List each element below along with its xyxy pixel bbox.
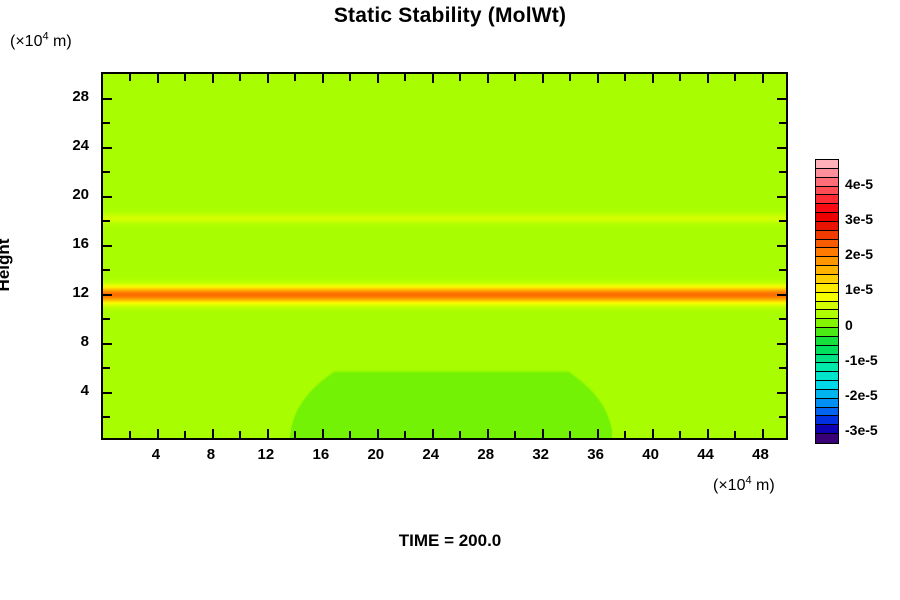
colorbar-band bbox=[816, 416, 838, 425]
axis-tick bbox=[459, 74, 461, 81]
x-tick-label: 20 bbox=[356, 446, 396, 463]
axis-tick bbox=[777, 196, 786, 198]
colorbar-band bbox=[816, 204, 838, 213]
y-unit-suffix: m) bbox=[49, 33, 72, 50]
colorbar-band bbox=[816, 390, 838, 399]
colorbar-band bbox=[816, 222, 838, 231]
y-tick-label: 20 bbox=[47, 186, 89, 203]
x-tick-label: 32 bbox=[521, 446, 561, 463]
axis-tick bbox=[679, 431, 681, 438]
axis-tick bbox=[734, 431, 736, 438]
colorbar-band bbox=[816, 240, 838, 249]
x-tick-label: 24 bbox=[411, 446, 451, 463]
axis-tick bbox=[652, 74, 654, 83]
colorbar-band bbox=[816, 310, 838, 319]
x-unit-suffix: m) bbox=[752, 477, 775, 494]
plot-area bbox=[101, 72, 788, 440]
axis-tick bbox=[779, 122, 786, 124]
colorbar-band bbox=[816, 248, 838, 257]
axis-tick bbox=[459, 431, 461, 438]
axis-tick bbox=[129, 74, 131, 81]
colorbar-band bbox=[816, 284, 838, 293]
axis-tick bbox=[487, 74, 489, 83]
axis-tick bbox=[542, 429, 544, 438]
axis-tick bbox=[103, 343, 112, 345]
colorbar-band bbox=[816, 434, 838, 443]
axis-tick bbox=[184, 74, 186, 81]
axis-tick bbox=[294, 431, 296, 438]
axis-tick bbox=[267, 429, 269, 438]
axis-tick bbox=[779, 416, 786, 418]
colorbar-band bbox=[816, 213, 838, 222]
axis-tick bbox=[777, 245, 786, 247]
axis-tick bbox=[103, 147, 112, 149]
axis-tick bbox=[569, 74, 571, 81]
x-tick-label: 28 bbox=[466, 446, 506, 463]
colorbar-band bbox=[816, 399, 838, 408]
y-tick-label: 24 bbox=[47, 137, 89, 154]
axis-tick bbox=[239, 74, 241, 81]
colorbar-band bbox=[816, 319, 838, 328]
colorbar-band bbox=[816, 293, 838, 302]
axis-tick bbox=[779, 220, 786, 222]
axis-tick bbox=[103, 269, 110, 271]
colorbar-band bbox=[816, 169, 838, 178]
axis-tick bbox=[777, 147, 786, 149]
axis-tick bbox=[103, 220, 110, 222]
page-title: Static Stability (MolWt) bbox=[0, 4, 900, 28]
x-tick-label: 44 bbox=[686, 446, 726, 463]
axis-tick bbox=[734, 74, 736, 81]
colorbar-band bbox=[816, 231, 838, 240]
axis-tick bbox=[157, 74, 159, 83]
axis-tick bbox=[597, 429, 599, 438]
axis-tick bbox=[239, 431, 241, 438]
y-tick-label: 28 bbox=[47, 88, 89, 105]
x-tick-label: 48 bbox=[741, 446, 781, 463]
axis-tick bbox=[779, 367, 786, 369]
y-tick-label: 16 bbox=[47, 235, 89, 252]
axis-tick bbox=[707, 74, 709, 83]
colorbar-tick-label: 4e-5 bbox=[845, 176, 873, 192]
axis-tick bbox=[779, 269, 786, 271]
x-tick-label: 36 bbox=[576, 446, 616, 463]
y-tick-label: 8 bbox=[47, 333, 89, 350]
axis-tick bbox=[779, 171, 786, 173]
colorbar-band bbox=[816, 328, 838, 337]
axis-tick bbox=[103, 416, 110, 418]
x-unit-prefix: (×10 bbox=[713, 477, 745, 494]
axis-tick bbox=[377, 429, 379, 438]
colorbar-tick-label: 3e-5 bbox=[845, 211, 873, 227]
y-axis-title: Height bbox=[0, 215, 14, 315]
colorbar-band bbox=[816, 257, 838, 266]
axis-tick bbox=[432, 74, 434, 83]
colorbar-band bbox=[816, 346, 838, 355]
colorbar-band bbox=[816, 160, 838, 169]
axis-tick bbox=[103, 171, 110, 173]
y-tick-label: 4 bbox=[47, 382, 89, 399]
axis-tick bbox=[212, 74, 214, 83]
y-tick-label: 12 bbox=[47, 284, 89, 301]
colorbar-band bbox=[816, 266, 838, 275]
axis-tick bbox=[267, 74, 269, 83]
colorbar-band bbox=[816, 372, 838, 381]
colorbar-tick-label: 2e-5 bbox=[845, 246, 873, 262]
axis-tick bbox=[777, 343, 786, 345]
axis-tick bbox=[157, 429, 159, 438]
axis-tick bbox=[103, 294, 112, 296]
axis-tick bbox=[103, 318, 110, 320]
colorbar-band bbox=[816, 381, 838, 390]
colorbar-band bbox=[816, 178, 838, 187]
y-axis-unit-label: (×104 m) bbox=[10, 33, 72, 51]
colorbar-band bbox=[816, 408, 838, 417]
axis-tick bbox=[777, 294, 786, 296]
heatmap-canvas bbox=[103, 74, 786, 438]
axis-tick bbox=[294, 74, 296, 81]
axis-tick bbox=[212, 429, 214, 438]
colorbar-band bbox=[816, 363, 838, 372]
colorbar-band bbox=[816, 195, 838, 204]
colorbar-band bbox=[816, 355, 838, 364]
axis-tick bbox=[762, 429, 764, 438]
axis-tick bbox=[777, 392, 786, 394]
colorbar-band bbox=[816, 337, 838, 346]
axis-tick bbox=[624, 431, 626, 438]
axis-tick bbox=[349, 74, 351, 81]
axis-tick bbox=[777, 98, 786, 100]
axis-tick bbox=[487, 429, 489, 438]
colorbar-band bbox=[816, 302, 838, 311]
colorbar-band bbox=[816, 275, 838, 284]
x-tick-label: 12 bbox=[246, 446, 286, 463]
axis-tick bbox=[542, 74, 544, 83]
y-unit-prefix: (×10 bbox=[10, 33, 42, 50]
x-axis-unit-label: (×104 m) bbox=[713, 477, 775, 495]
colorbar-tick-label: -1e-5 bbox=[845, 352, 878, 368]
x-tick-label: 4 bbox=[136, 446, 176, 463]
axis-tick bbox=[762, 74, 764, 83]
axis-tick bbox=[103, 196, 112, 198]
x-tick-label: 16 bbox=[301, 446, 341, 463]
axis-tick bbox=[103, 122, 110, 124]
axis-tick bbox=[103, 367, 110, 369]
axis-tick bbox=[707, 429, 709, 438]
colorbar-band bbox=[816, 425, 838, 434]
time-annotation: TIME = 200.0 bbox=[0, 531, 900, 551]
colorbar-tick-label: -3e-5 bbox=[845, 422, 878, 438]
axis-tick bbox=[597, 74, 599, 83]
axis-tick bbox=[322, 74, 324, 83]
axis-tick bbox=[514, 74, 516, 81]
colorbar-tick-label: 1e-5 bbox=[845, 281, 873, 297]
axis-tick bbox=[322, 429, 324, 438]
axis-tick bbox=[624, 74, 626, 81]
axis-tick bbox=[432, 429, 434, 438]
axis-tick bbox=[404, 74, 406, 81]
axis-tick bbox=[349, 431, 351, 438]
axis-tick bbox=[404, 431, 406, 438]
colorbar-band bbox=[816, 187, 838, 196]
axis-tick bbox=[103, 98, 112, 100]
axis-tick bbox=[377, 74, 379, 83]
axis-tick bbox=[679, 74, 681, 81]
colorbar-tick-label: 0 bbox=[845, 317, 853, 333]
axis-tick bbox=[103, 245, 112, 247]
axis-tick bbox=[569, 431, 571, 438]
x-tick-label: 40 bbox=[631, 446, 671, 463]
axis-tick bbox=[514, 431, 516, 438]
colorbar-tick-label: -2e-5 bbox=[845, 387, 878, 403]
axis-tick bbox=[184, 431, 186, 438]
colorbar-legend bbox=[815, 159, 839, 444]
axis-tick bbox=[779, 318, 786, 320]
axis-tick bbox=[103, 392, 112, 394]
axis-tick bbox=[652, 429, 654, 438]
axis-tick bbox=[129, 431, 131, 438]
x-tick-label: 8 bbox=[191, 446, 231, 463]
